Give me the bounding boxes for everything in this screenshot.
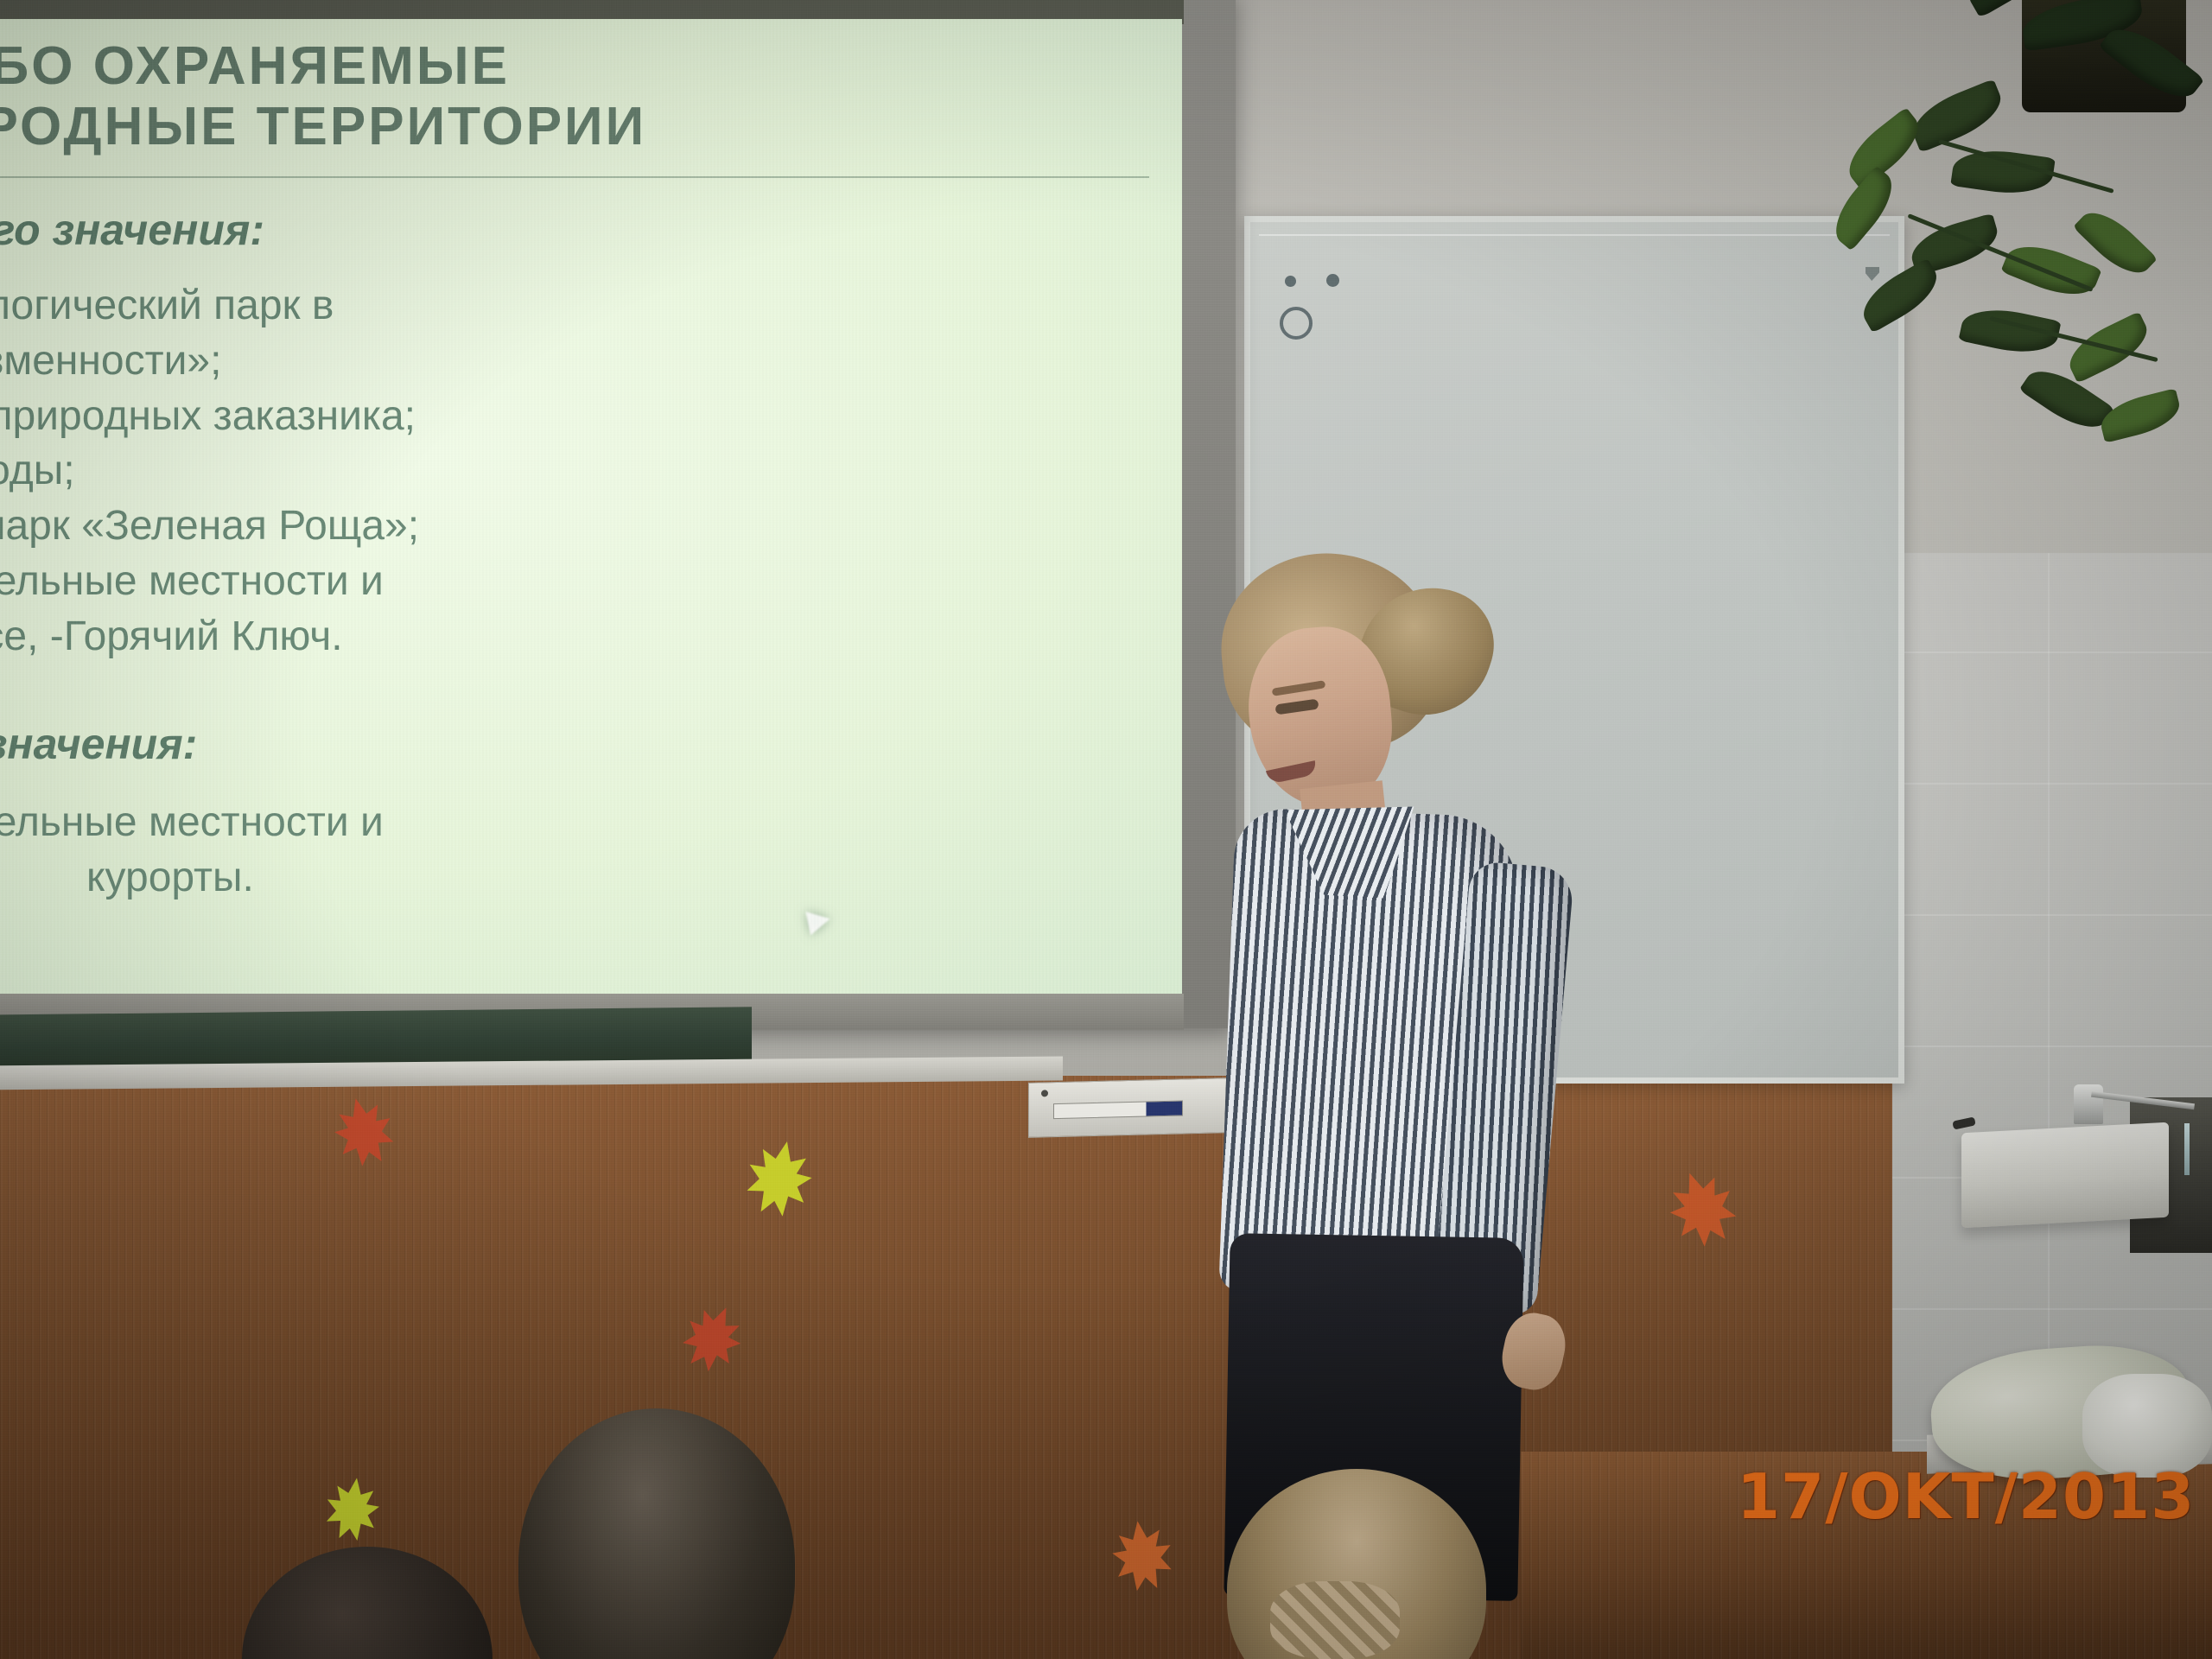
faucet-icon (2074, 1084, 2103, 1124)
slide-bullet-list: й орнитологический парк в нской низменно… (0, 278, 994, 664)
list-item: й орнитологический парк в (0, 278, 994, 334)
water-stream (2184, 1123, 2190, 1175)
slide-subheading-local: стного значения: (0, 719, 933, 769)
list-item: здоровительные местности и (0, 799, 384, 845)
hook-icon (1280, 307, 1313, 340)
list-item: ический парк «Зеленая Роща»; (0, 499, 994, 554)
list-item: ика природы; (0, 443, 994, 499)
list-item: твенных природных заказника; (0, 389, 994, 444)
title-divider (0, 176, 1149, 178)
projection-screen[interactable]: ОСОБО ОХРАНЯЕМЫЕ ПРИРОДНЫЕ ТЕРРИТОРИИ он… (0, 19, 1182, 995)
slide-subheading-regional: онального значения: (0, 205, 933, 255)
magnet-icon (1326, 274, 1339, 287)
classroom-photo: ОСОБО ОХРАНЯЕМЫЕ ПРИРОДНЫЕ ТЕРРИТОРИИ он… (0, 0, 2212, 1659)
list-item: ск, -Туапсе, -Горячий Ключ. (0, 609, 994, 664)
screw-icon (1041, 1090, 1048, 1096)
whiteboard-top-edge (1259, 234, 1890, 236)
camera-datestamp: 17/OKT/2013 (1737, 1460, 2195, 1533)
slide-tail-list: здоровительные местности и курорты. (0, 795, 994, 906)
list-item: здоровительные местности и (0, 554, 994, 609)
slide-content: ОСОБО ОХРАНЯЕМЫЕ ПРИРОДНЫЕ ТЕРРИТОРИИ он… (0, 19, 1182, 995)
student-braid (1270, 1581, 1400, 1659)
hanging-plant (1806, 0, 2212, 726)
slide-title-line1: ОСОБО ОХРАНЯЕМЫЕ (0, 36, 510, 96)
slide-title-line2: ПРИРОДНЫЕ ТЕРРИТОРИИ (0, 97, 1141, 157)
presenter-figure (1192, 553, 1573, 1512)
magnet-icon (1285, 276, 1296, 287)
list-item: нской низменности»; (0, 334, 994, 389)
paper-towel-roll (1961, 1122, 2169, 1229)
slide-title: ОСОБО ОХРАНЯЕМЫЕ ПРИРОДНЫЕ ТЕРРИТОРИИ (0, 36, 1141, 157)
whiteboard-marker[interactable] (1053, 1100, 1183, 1119)
list-item: курорты. (0, 850, 994, 906)
pointer-arrow-icon (805, 907, 832, 936)
